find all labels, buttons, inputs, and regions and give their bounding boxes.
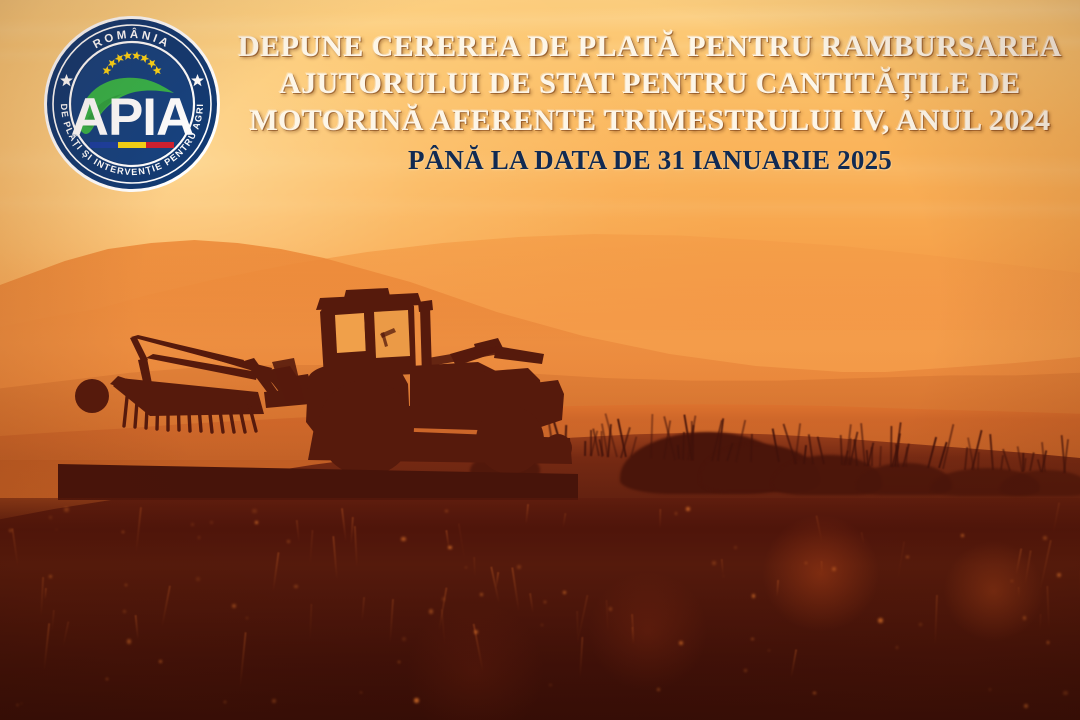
field-spark — [563, 591, 565, 593]
field-spark — [919, 623, 922, 626]
field-spark — [196, 577, 200, 581]
deadline-line: PÂNĂ LA DATA DE 31 IANUARIE 2025 — [236, 143, 1064, 177]
field-spark — [989, 688, 992, 691]
headline-block: DEPUNE CEREREA DE PLATĂ PENTRU RAMBURSAR… — [236, 28, 1064, 177]
field-spark — [1023, 616, 1026, 619]
field-spark — [49, 575, 52, 578]
headline-line-2: AJUTORULUI DE STAT PENTRU CANTITĂȚILE DE — [236, 65, 1064, 102]
field-spark — [906, 556, 909, 559]
dark-field-foreground — [0, 498, 1080, 720]
twig — [590, 430, 592, 456]
field-stalk — [631, 627, 634, 645]
field-spark — [480, 593, 483, 596]
field-spark — [517, 565, 521, 569]
field-spark — [1057, 573, 1061, 577]
romania-flag-bar — [90, 142, 174, 148]
logo-acronym: APIA — [71, 88, 194, 147]
field-spark — [191, 523, 194, 526]
field-spark — [544, 601, 546, 603]
field-spark — [429, 609, 433, 613]
field-spark — [541, 624, 543, 626]
field-stalk — [1018, 587, 1020, 598]
field-stalk — [659, 509, 661, 529]
apia-logo[interactable]: ROMÂNIA AGENȚIA DE PLĂȚI ȘI INTERVENȚIE … — [42, 14, 222, 194]
field-spark — [445, 510, 447, 512]
field-spark — [751, 638, 754, 641]
field-spark — [657, 688, 660, 691]
field-spark — [252, 509, 256, 513]
field-spark — [896, 646, 898, 648]
field-spark — [813, 692, 815, 694]
poster-canvas: ROMÂNIA AGENȚIA DE PLĂȚI ȘI INTERVENȚIE … — [0, 0, 1080, 720]
headline-line-1: DEPUNE CEREREA DE PLATĂ PENTRU RAMBURSAR… — [236, 28, 1064, 65]
field-stalk — [1039, 613, 1042, 630]
tractor-silhouette — [58, 288, 578, 500]
field-spark — [1024, 704, 1028, 708]
field-spark — [752, 594, 755, 597]
field-spark — [210, 521, 213, 524]
twig — [890, 426, 892, 467]
field-spark — [1047, 641, 1049, 643]
field-spark — [255, 521, 258, 524]
field-spark — [398, 661, 400, 663]
field-spark — [878, 618, 883, 623]
field-spark — [414, 698, 419, 703]
field-spark — [401, 537, 405, 541]
headline-line-3: MOTORINĂ AFERENTE TRIMESTRULUI IV, ANUL … — [236, 102, 1064, 139]
field-spark — [122, 531, 123, 532]
field-spark — [294, 585, 297, 588]
field-spark — [686, 507, 689, 510]
field-spark — [224, 701, 226, 703]
field-spark — [1063, 691, 1067, 695]
field-spark — [712, 561, 716, 565]
field-spark — [64, 507, 68, 511]
